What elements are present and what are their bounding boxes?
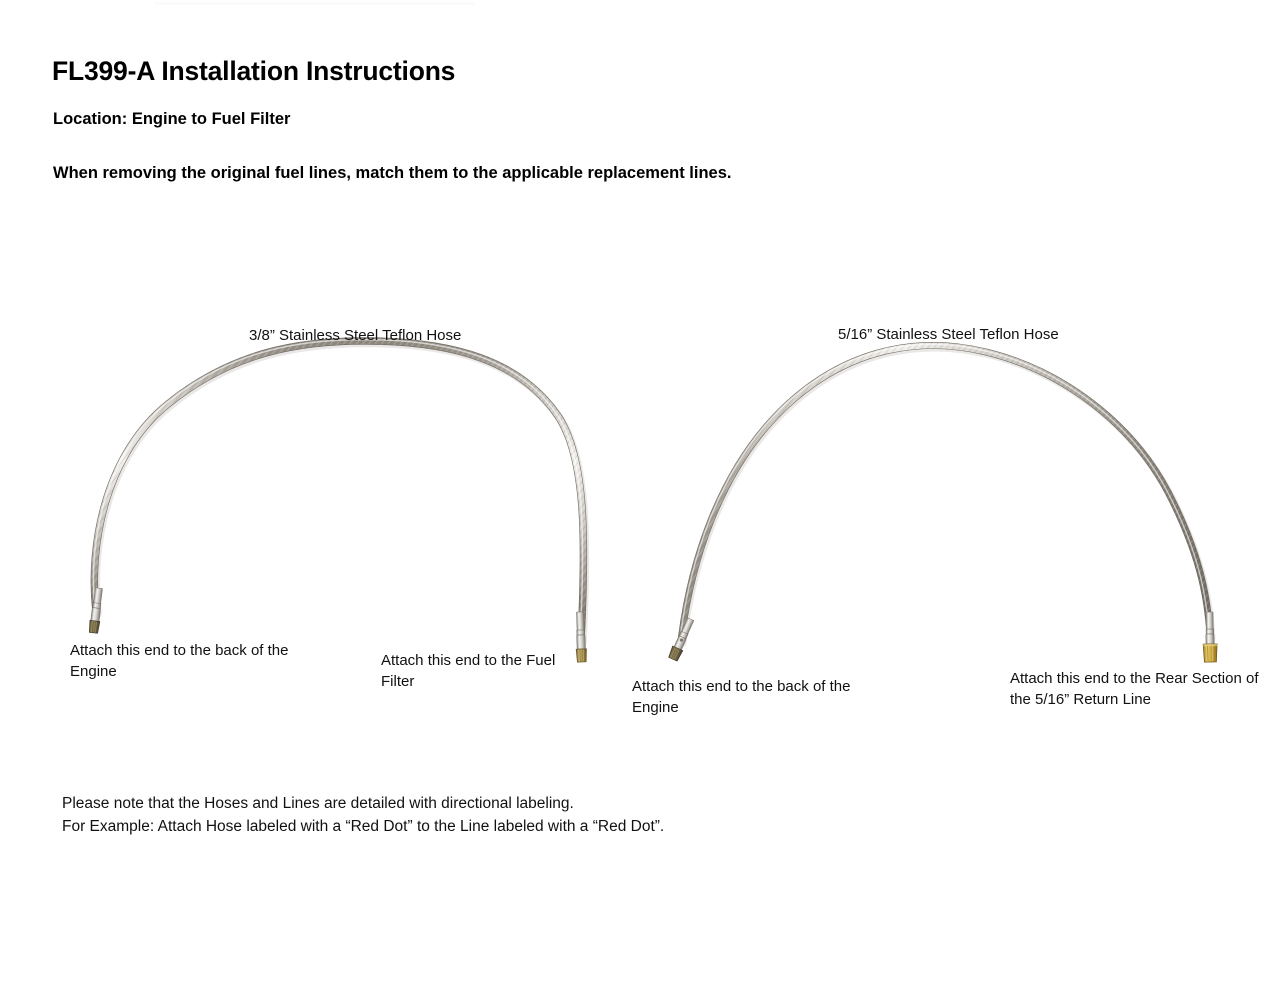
instruction-page: FL399-A Installation Instructions Locati… [0, 0, 1280, 989]
hose-diagram [0, 0, 1280, 989]
hose-left-shadow [96, 343, 585, 642]
hose-right-assembly [668, 344, 1218, 662]
hose-right-label: 5/16” Stainless Steel Teflon Hose [838, 326, 1059, 343]
note-line-1: Please note that the Hoses and Lines are… [62, 792, 664, 815]
hose-left-engine-fitting [88, 588, 103, 634]
hose-left-braid-texture [94, 341, 583, 640]
hose-right-highlight [680, 344, 1209, 639]
page-title: FL399-A Installation Instructions [52, 56, 455, 87]
hose-left-label: 3/8” Stainless Steel Teflon Hose [249, 327, 461, 344]
hose-left-outline [94, 341, 583, 640]
directional-labeling-note: Please note that the Hoses and Lines are… [62, 792, 664, 838]
top-edge-artifact [155, 2, 475, 5]
hose-right-outline [681, 346, 1210, 641]
hose-right-body [681, 346, 1210, 641]
note-line-2: For Example: Attach Hose labeled with a … [62, 815, 664, 838]
caption-left-hose-filter-end: Attach this end to the Fuel Filter [381, 650, 591, 692]
intro-instruction: When removing the original fuel lines, m… [53, 164, 731, 183]
hose-right-shadow [683, 348, 1212, 643]
hose-right-return-fitting [1203, 612, 1218, 662]
hose-left-body [94, 341, 583, 640]
hose-left-assembly [88, 340, 586, 663]
caption-left-hose-engine-end: Attach this end to the back of the Engin… [70, 640, 300, 682]
hose-right-engine-fitting [668, 617, 696, 662]
bronze-hex-nut [668, 646, 683, 662]
location-line: Location: Engine to Fuel Filter [53, 110, 290, 129]
hose-right-braid-texture [681, 346, 1210, 641]
hose-left-highlight [93, 340, 582, 639]
caption-right-hose-engine-end: Attach this end to the back of the Engin… [632, 676, 862, 718]
bronze-hex-nut [88, 620, 99, 633]
brass-hex-nut [1203, 644, 1217, 662]
caption-right-hose-return-end: Attach this end to the Rear Section of t… [1010, 668, 1270, 710]
